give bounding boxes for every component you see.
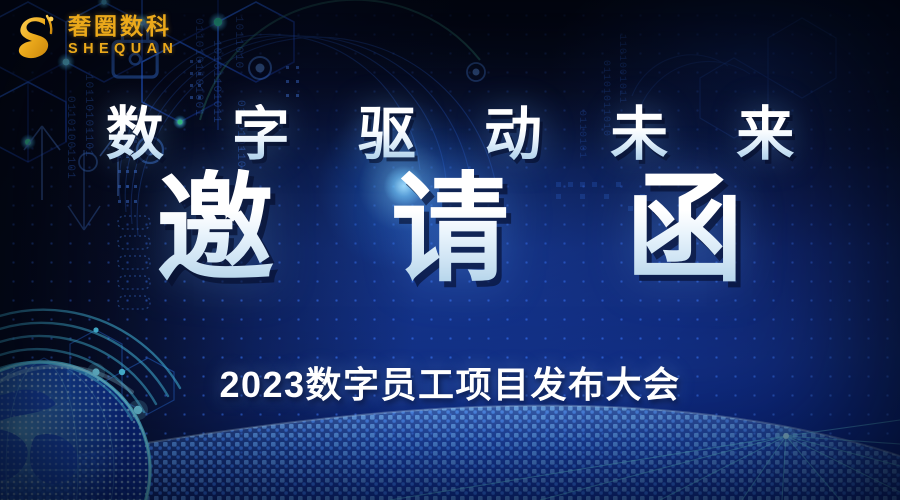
page-title: 邀 请 函 <box>0 169 900 292</box>
brand-logo[interactable]: 奢圈数科 SHEQUAN <box>14 12 178 60</box>
brand-name-en: SHEQUAN <box>68 42 178 57</box>
invitation-poster: 01101001101 10110101101 0110101101001 10… <box>0 0 900 500</box>
brand-wordmark: 奢圈数科 SHEQUAN <box>68 15 178 57</box>
shequan-monogram-icon <box>14 12 60 60</box>
event-subtitle: 2023数字员工项目发布大会 <box>0 356 900 408</box>
brand-name-cn: 奢圈数科 <box>68 15 178 38</box>
tagline: 数 字 驱 动 未 来 <box>0 104 900 165</box>
headline-block: 数 字 驱 动 未 来 邀 请 函 <box>0 104 900 292</box>
